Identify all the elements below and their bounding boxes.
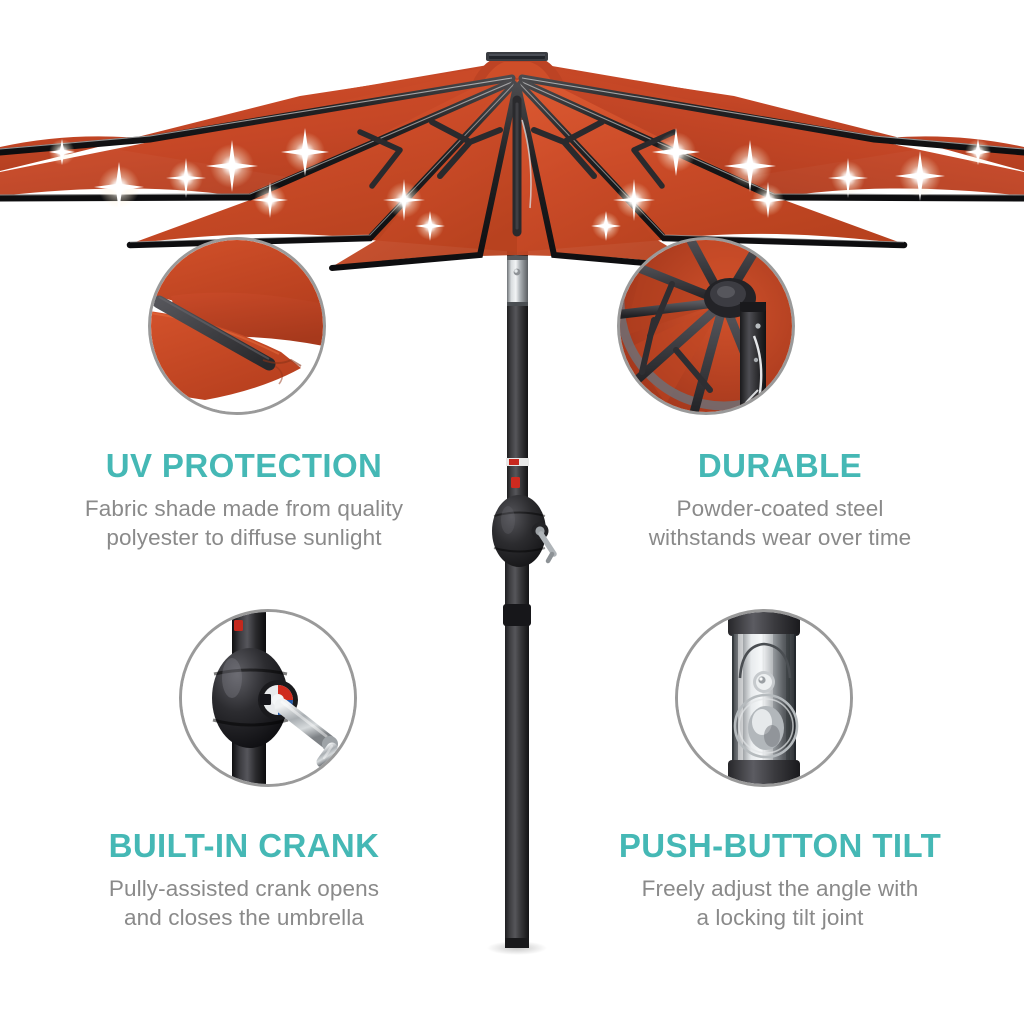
fabric-fold-icon xyxy=(151,240,323,412)
feature-body-line: polyester to diffuse sunlight xyxy=(9,524,479,553)
feature-heading-push-button-tilt: PUSH-BUTTON TILT xyxy=(545,828,1015,865)
feature-block-built-in-crank: BUILT-IN CRANK Pully-assisted crank open… xyxy=(9,828,479,933)
umbrella-canopy-group xyxy=(0,52,1024,268)
feature-body-durable: Powder-coated steel withstands wear over… xyxy=(545,495,1015,553)
feature-body-line: withstands wear over time xyxy=(545,524,1015,553)
feature-body-built-in-crank: Pully-assisted crank opens and closes th… xyxy=(9,875,479,933)
crank-handle-icon xyxy=(182,612,354,784)
feature-body-line: a locking tilt joint xyxy=(545,904,1015,933)
feature-heading-durable: DURABLE xyxy=(545,448,1015,485)
feature-body-line: Powder-coated steel xyxy=(545,495,1015,524)
callout-circle-umbrella-ribs xyxy=(617,237,795,415)
infographic-canvas: UV PROTECTION Fabric shade made from qua… xyxy=(0,0,1024,1024)
canopy-ribs-group xyxy=(0,78,1024,268)
feature-block-uv-protection: UV PROTECTION Fabric shade made from qua… xyxy=(9,448,479,553)
feature-body-line: Freely adjust the angle with xyxy=(545,875,1015,904)
callout-circle-crank-handle xyxy=(179,609,357,787)
umbrella-ribs-icon xyxy=(620,240,792,412)
callout-circle-tilt-joint xyxy=(675,609,853,787)
feature-block-durable: DURABLE Powder-coated steel withstands w… xyxy=(545,448,1015,553)
feature-body-line: and closes the umbrella xyxy=(9,904,479,933)
feature-body-push-button-tilt: Freely adjust the angle with a locking t… xyxy=(545,875,1015,933)
feature-block-push-button-tilt: PUSH-BUTTON TILT Freely adjust the angle… xyxy=(545,828,1015,933)
umbrella-pole-group xyxy=(487,196,547,955)
feature-body-line: Pully-assisted crank opens xyxy=(9,875,479,904)
feature-body-uv-protection: Fabric shade made from quality polyester… xyxy=(9,495,479,553)
callout-circle-fabric-fold xyxy=(148,237,326,415)
tilt-joint-icon xyxy=(678,612,850,784)
feature-heading-built-in-crank: BUILT-IN CRANK xyxy=(9,828,479,865)
feature-body-line: Fabric shade made from quality xyxy=(9,495,479,524)
led-lights-group xyxy=(49,128,991,241)
feature-heading-uv-protection: UV PROTECTION xyxy=(9,448,479,485)
